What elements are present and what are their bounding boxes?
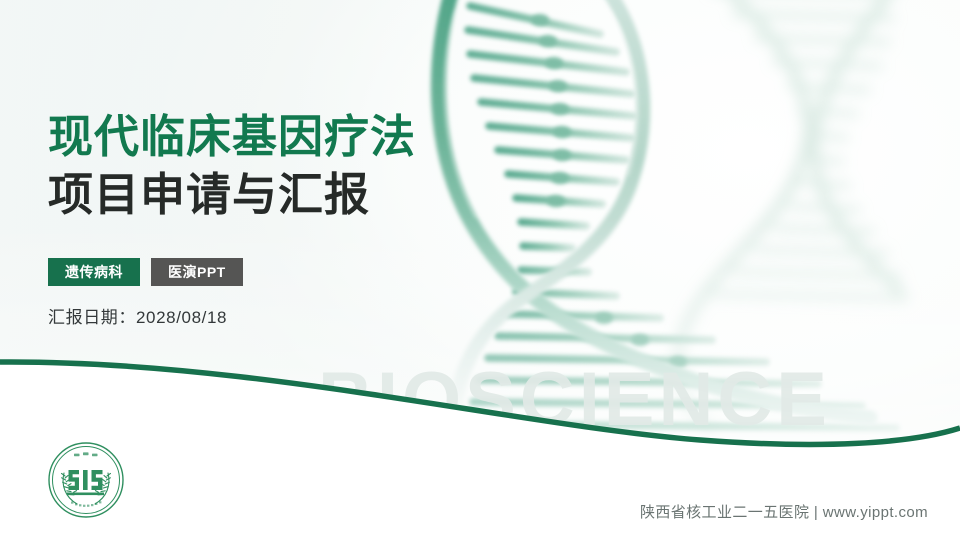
badge-group: 遗传病科 医演PPT (48, 258, 243, 286)
hospital-emblem-icon (47, 441, 125, 519)
footer-credit: 陕西省核工业二一五医院 | www.yippt.com (640, 501, 928, 522)
status-badge-brand[interactable]: 医演PPT (151, 258, 243, 286)
report-date: 汇报日期：2028/08/18 (48, 303, 227, 328)
logo-numerals (69, 470, 103, 490)
page-title: 现代临床基因疗法 项目申请与汇报 (48, 108, 568, 223)
title-line-secondary: 项目申请与汇报 (48, 166, 568, 224)
title-line-primary: 现代临床基因疗法 (48, 108, 568, 166)
status-badge-department[interactable]: 遗传病科 (48, 258, 140, 286)
presentation-cover-slide: BIOSCIENCE 现代临床基因疗法 项目申请与汇报 遗传病科 医演PPT 汇… (0, 0, 960, 540)
